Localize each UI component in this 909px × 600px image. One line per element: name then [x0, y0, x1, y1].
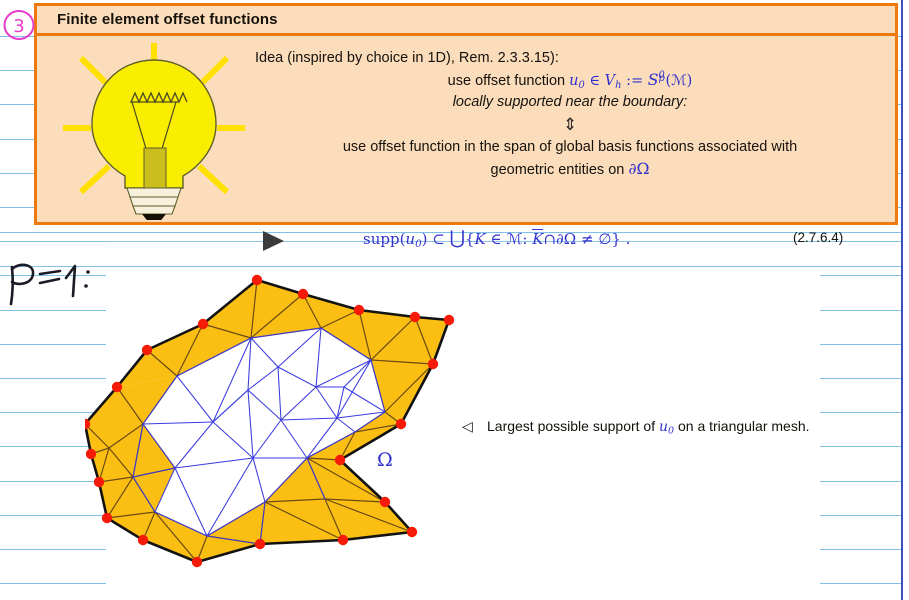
idea-line-5: use offset function in the span of globa…	[255, 137, 885, 158]
paper-rule-line	[820, 515, 902, 516]
eq-brace-close: }	[611, 230, 621, 248]
paper-rule-line	[820, 378, 902, 379]
eq-K: K	[474, 230, 485, 248]
math-mesh-M: (ℳ)	[666, 73, 693, 89]
eq-cap: ∩	[543, 230, 556, 248]
play-triangle-icon	[263, 231, 284, 251]
equation-row: supp(u0) ⊂ ⋃{K ∈ ℳ: K∩∂Ω ≠ ∅} . (2.7.6.4…	[0, 228, 909, 258]
triangular-mesh-diagram	[85, 272, 475, 597]
math-assign: :=	[622, 73, 648, 89]
callout-text: Idea (inspired by choice in 1D), Rem. 2.…	[255, 48, 885, 180]
page-number-badge: 3	[2, 8, 36, 42]
page-number-text: 3	[13, 16, 24, 37]
paper-rule-line	[820, 549, 902, 550]
idea-line-6: geometric entities on ∂Ω	[255, 158, 885, 181]
callout-body: Idea (inspired by choice in 1D), Rem. 2.…	[37, 36, 895, 222]
caption-text-after: on a triangular mesh.	[674, 418, 809, 434]
math-boundary-omega: ∂Ω	[628, 159, 649, 178]
eq-in: ∈	[486, 230, 507, 248]
idea-line-1: Idea (inspired by choice in 1D), Rem. 2.…	[255, 48, 885, 69]
eq-subset: ⊂	[427, 230, 449, 248]
eq-supp: supp	[363, 230, 400, 248]
slide-page: 3 Finite element offset functions	[0, 0, 909, 600]
eq-period: .	[621, 230, 631, 248]
eq-mesh-M: ℳ	[506, 230, 522, 248]
offset-fn-prefix: use offset function	[448, 73, 569, 89]
caption-text-before: Largest possible support of	[487, 418, 659, 434]
caption-math-u: u	[659, 419, 668, 435]
eq-K-closure: K	[532, 229, 543, 248]
idea-equivalence-arrow: ⇕	[255, 113, 885, 137]
paper-rule-line	[820, 275, 902, 276]
eq-u: u	[405, 230, 415, 248]
omega-domain-label: Ω	[377, 449, 393, 471]
callout-title: Finite element offset functions	[57, 11, 278, 28]
idea-line-2: use offset function u0 ∈ Vh := 𝑆0p(ℳ)	[255, 69, 885, 93]
eq-neq: ≠	[576, 230, 598, 248]
eq-bigcup: ⋃	[450, 228, 465, 249]
figure-caption: ◁ Largest possible support of u0 on a tr…	[462, 417, 862, 439]
paper-margin-line	[901, 0, 903, 600]
callout-header: Finite element offset functions	[37, 6, 895, 36]
paper-rule-line	[0, 266, 902, 267]
caption-text: Largest possible support of u0 on a tria…	[487, 417, 862, 439]
paper-rule-line	[820, 481, 902, 482]
equation-tag: (2.7.6.4)	[793, 230, 843, 245]
math-S-sub: p	[659, 72, 665, 86]
paper-rule-line	[820, 344, 902, 345]
idea-line-6-prefix: geometric entities on	[491, 162, 629, 178]
eq-emptyset: ∅	[598, 230, 611, 248]
eq-boundary-omega: ∂Ω	[556, 230, 576, 248]
math-space-S: 𝑆	[648, 70, 659, 89]
equation-expression: supp(u0) ⊂ ⋃{K ∈ ℳ: K∩∂Ω ≠ ∅} .	[363, 228, 631, 250]
math-in: ∈	[585, 73, 605, 89]
idea-line-3: locally supported near the boundary:	[255, 92, 885, 113]
caption-marker-icon: ◁	[462, 419, 473, 435]
lightbulb-icon	[59, 40, 249, 220]
paper-rule-line	[820, 583, 902, 584]
math-vh: V	[605, 73, 615, 89]
handwritten-annotation	[4, 252, 114, 310]
paper-rule-line	[820, 310, 902, 311]
paper-rule-line	[820, 412, 902, 413]
callout-box: Finite element offset functions	[34, 3, 898, 225]
eq-colon: :	[522, 230, 532, 248]
paper-rule-line	[820, 446, 902, 447]
